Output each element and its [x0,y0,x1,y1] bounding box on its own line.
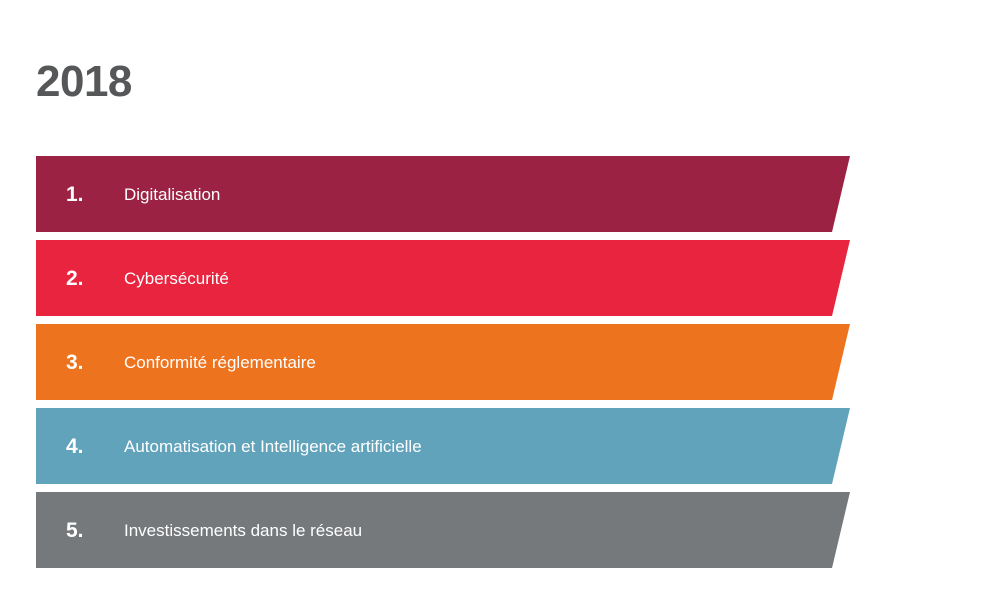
rank-number: 1. [66,184,124,205]
rank-content-4: 4. Automatisation et Intelligence artifi… [36,408,422,484]
rank-number: 4. [66,436,124,457]
list-item[interactable]: 3. Conformité réglementaire [36,324,850,400]
rank-label: Conformité réglementaire [124,354,316,371]
rank-content-5: 5. Investissements dans le réseau [36,492,362,568]
rank-label: Digitalisation [124,186,220,203]
rank-content-3: 3. Conformité réglementaire [36,324,316,400]
page-title: 2018 [36,60,132,104]
rank-label: Cybersécurité [124,270,229,287]
rank-label: Automatisation et Intelligence artificie… [124,438,422,455]
list-item[interactable]: 5. Investissements dans le réseau [36,492,850,568]
rank-number: 3. [66,352,124,373]
slide-canvas: 2018 1. Digitalisation 2. Cybersécurité … [0,0,1000,600]
list-item[interactable]: 2. Cybersécurité [36,240,850,316]
rank-number: 5. [66,520,124,541]
rank-content-1: 1. Digitalisation [36,156,220,232]
rank-number: 2. [66,268,124,289]
rank-label: Investissements dans le réseau [124,522,362,539]
list-item[interactable]: 1. Digitalisation [36,156,850,232]
ranking-list: 1. Digitalisation 2. Cybersécurité 3. Co… [36,156,896,568]
list-item[interactable]: 4. Automatisation et Intelligence artifi… [36,408,850,484]
rank-content-2: 2. Cybersécurité [36,240,229,316]
